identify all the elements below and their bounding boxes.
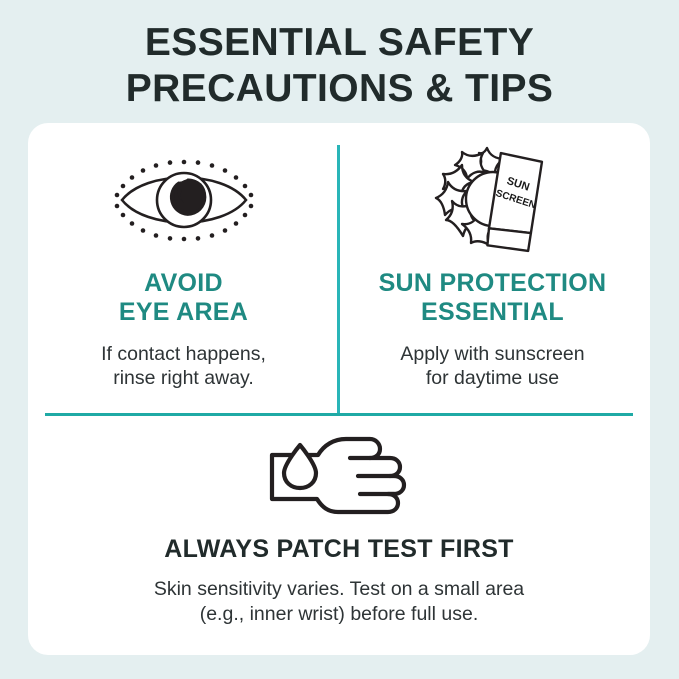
panel-body-line-2: for daytime use [426, 367, 559, 389]
panel-avoid-eye-area: AVOID EYE AREA If contact happens, rinse… [36, 141, 331, 409]
panel-heading-avoid-eye-area: AVOID EYE AREA [119, 269, 248, 328]
page-title: ESSENTIAL SAFETY PRECAUTIONS & TIPS [0, 20, 679, 112]
panel-body-sun-protection: Apply with sunscreen for daytime use [400, 342, 584, 392]
panel-body-line-1: Skin sensitivity varies. Test on a small… [154, 578, 524, 600]
panel-body-patch-test: Skin sensitivity varies. Test on a small… [154, 577, 524, 628]
infographic-page: ESSENTIAL SAFETY PRECAUTIONS & TIPS [0, 0, 679, 679]
sunscreen-icon: SUN SCREEN [433, 141, 553, 259]
panel-body-line-1: Apply with sunscreen [400, 343, 584, 365]
content-card: AVOID EYE AREA If contact happens, rinse… [28, 123, 650, 655]
panel-body-line-2: (e.g., inner wrist) before full use. [200, 603, 479, 625]
panel-heading-line-1: AVOID [144, 269, 223, 297]
eye-icon [108, 141, 260, 259]
page-title-line-2: PRECAUTIONS & TIPS [0, 66, 679, 112]
vertical-divider [337, 145, 340, 415]
panel-sun-protection: SUN SCREEN SUN PROTECTION ESSENTIAL Appl… [345, 141, 640, 409]
page-title-line-1: ESSENTIAL SAFETY [0, 20, 679, 66]
panel-heading-line-2: EYE AREA [119, 298, 248, 326]
panel-body-line-1: If contact happens, [101, 343, 266, 365]
panel-body-avoid-eye-area: If contact happens, rinse right away. [101, 342, 266, 392]
hand-droplet-icon [266, 423, 412, 533]
panel-heading-line-1: SUN PROTECTION [379, 269, 607, 297]
panel-heading-sun-protection: SUN PROTECTION ESSENTIAL [379, 269, 607, 328]
panel-heading-patch-test: ALWAYS PATCH TEST FIRST [164, 535, 514, 564]
horizontal-divider [45, 413, 633, 416]
panel-heading-line-2: ESSENTIAL [421, 298, 564, 326]
panel-patch-test: ALWAYS PATCH TEST FIRST Skin sensitivity… [28, 423, 650, 628]
panel-body-line-2: rinse right away. [113, 367, 254, 389]
